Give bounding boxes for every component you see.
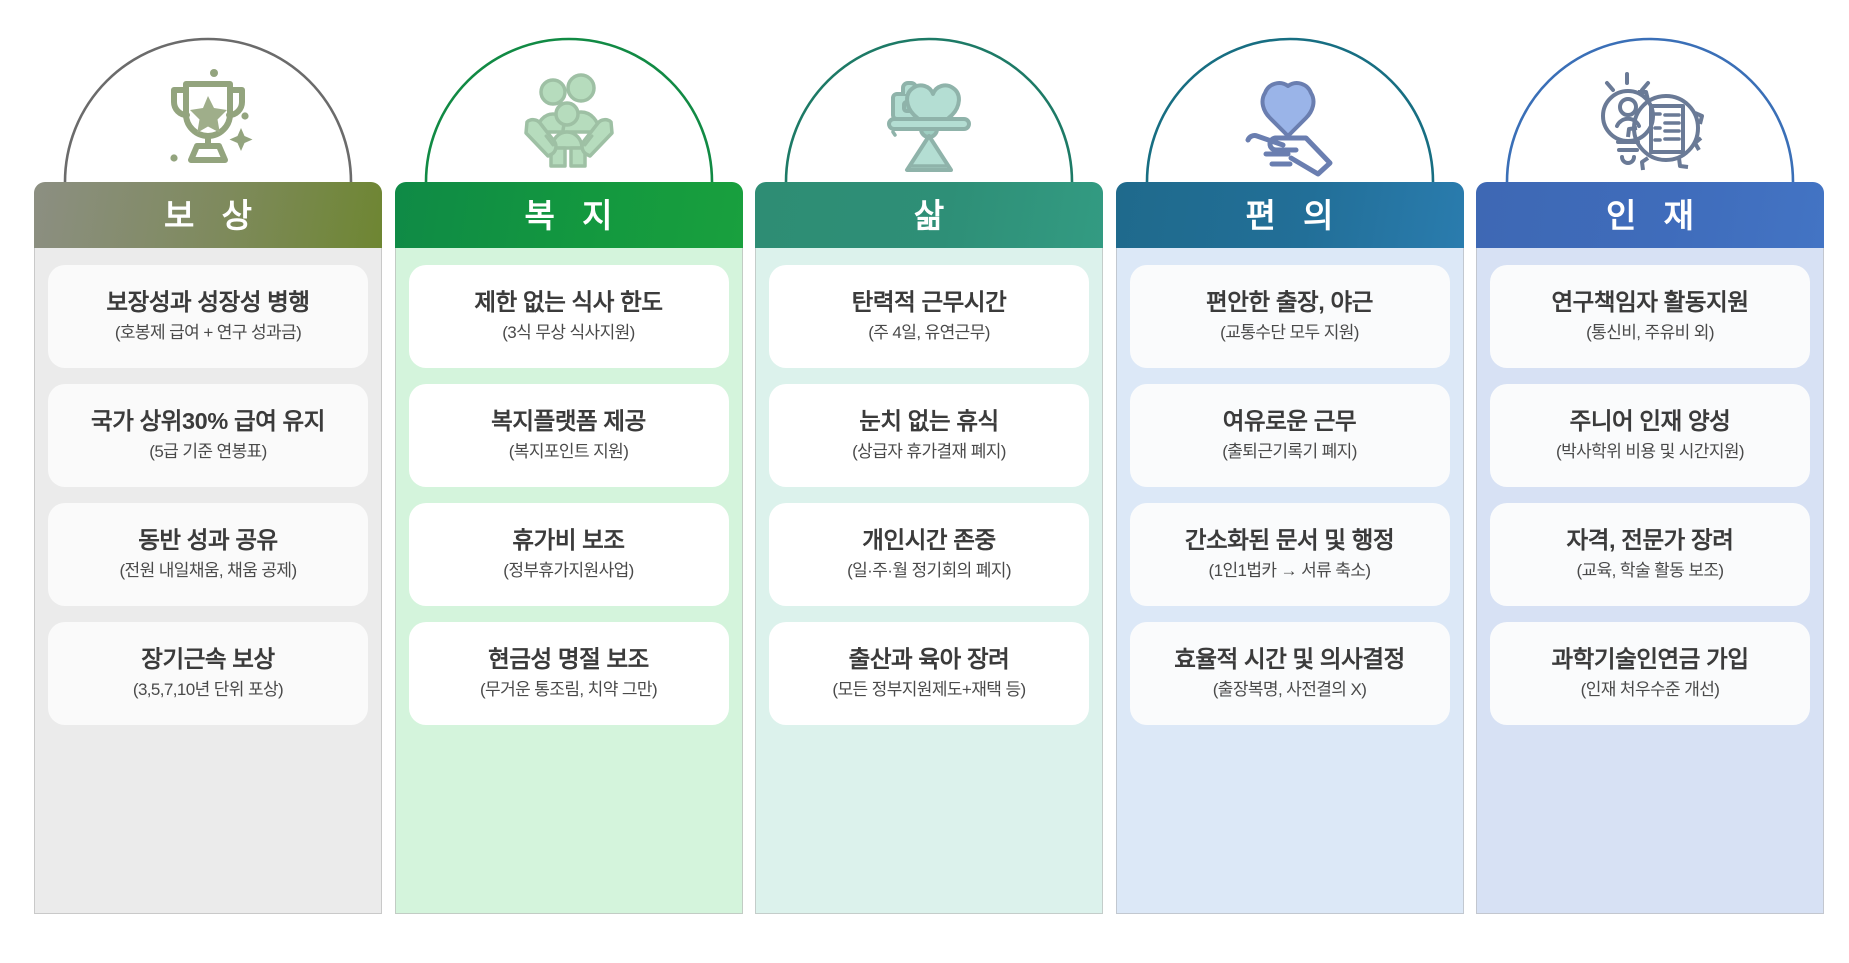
card-list-injae: 연구책임자 활동지원 (통신비, 주유비 외) 주니어 인재 양성 (박사학위 … bbox=[1476, 248, 1824, 914]
benefit-card[interactable]: 현금성 명절 보조 (무거운 통조림, 치약 그만) bbox=[409, 622, 729, 725]
benefit-card[interactable]: 휴가비 보조 (정부휴가지원사업) bbox=[409, 503, 729, 606]
category-columns: 보 상 보장성과 성장성 병행 (호봉제 급여 + 연구 성과금) 국가 상위3… bbox=[34, 24, 1824, 924]
benefit-card[interactable]: 주니어 인재 양성 (박사학위 비용 및 시간지원) bbox=[1490, 384, 1810, 487]
benefit-card[interactable]: 편안한 출장, 야근 (교통수단 모두 지원) bbox=[1130, 265, 1450, 368]
card-subtitle: (3,5,7,10년 단위 포상) bbox=[133, 680, 283, 700]
arch-zone-bosang bbox=[34, 24, 382, 182]
benefit-card[interactable]: 보장성과 성장성 병행 (호봉제 급여 + 연구 성과금) bbox=[48, 265, 368, 368]
column-title-injae: 인 재 bbox=[1597, 199, 1703, 232]
card-title: 탄력적 근무시간 bbox=[852, 289, 1007, 317]
card-subtitle: (3식 무상 식사지원) bbox=[502, 323, 635, 343]
card-subtitle: (통신비, 주유비 외) bbox=[1586, 323, 1714, 343]
benefit-card[interactable]: 출산과 육아 장려 (모든 정부지원제도+재택 등) bbox=[769, 622, 1089, 725]
benefit-card[interactable]: 여유로운 근무 (출퇴근기록기 폐지) bbox=[1130, 384, 1450, 487]
category-column-bosang[interactable]: 보 상 보장성과 성장성 병행 (호봉제 급여 + 연구 성과금) 국가 상위3… bbox=[34, 24, 382, 914]
card-title: 연구책임자 활동지원 bbox=[1551, 289, 1748, 317]
card-title: 여유로운 근무 bbox=[1223, 408, 1356, 436]
card-subtitle: (모든 정부지원제도+재택 등) bbox=[832, 680, 1025, 700]
benefit-card[interactable]: 국가 상위30% 급여 유지 (5급 기준 연봉표) bbox=[48, 384, 368, 487]
card-title: 현금성 명절 보조 bbox=[488, 646, 649, 674]
lightbulb-gear-idea-icon bbox=[1585, 54, 1715, 178]
benefit-card[interactable]: 눈치 없는 휴식 (상급자 휴가결재 폐지) bbox=[769, 384, 1089, 487]
benefit-card[interactable]: 복지플랫폼 제공 (복지포인트 지원) bbox=[409, 384, 729, 487]
card-title: 동반 성과 공유 bbox=[138, 527, 278, 555]
card-title: 주니어 인재 양성 bbox=[1570, 408, 1731, 436]
card-title: 편안한 출장, 야근 bbox=[1206, 289, 1373, 317]
card-title: 장기근속 보상 bbox=[141, 646, 274, 674]
card-title: 출산과 육아 장려 bbox=[849, 646, 1010, 674]
header-band-bokji: 복 지 bbox=[395, 182, 743, 248]
trophy-star-icon bbox=[143, 54, 273, 178]
arch-zone-sam bbox=[755, 24, 1103, 182]
category-column-bokji[interactable]: 복 지 제한 없는 식사 한도 (3식 무상 식사지원) 복지플랫폼 제공 (복… bbox=[395, 24, 743, 914]
card-list-pyeonui: 편안한 출장, 야근 (교통수단 모두 지원) 여유로운 근무 (출퇴근기록기 … bbox=[1116, 248, 1464, 914]
benefit-card[interactable]: 자격, 전문가 장려 (교육, 학술 활동 보조) bbox=[1490, 503, 1810, 606]
benefit-card[interactable]: 과학기술인연금 가입 (인재 처우수준 개선) bbox=[1490, 622, 1810, 725]
header-band-sam: 삶 bbox=[755, 182, 1103, 248]
column-title-bosang: 보 상 bbox=[155, 199, 261, 232]
card-subtitle: (박사학위 비용 및 시간지원) bbox=[1556, 442, 1744, 462]
card-title: 복지플랫폼 제공 bbox=[491, 408, 646, 436]
benefit-card[interactable]: 개인시간 존중 (일·주·월 정기회의 폐지) bbox=[769, 503, 1089, 606]
card-subtitle: (출퇴근기록기 폐지) bbox=[1222, 442, 1357, 462]
header-band-bosang: 보 상 bbox=[34, 182, 382, 248]
card-subtitle: (인재 처우수준 개선) bbox=[1581, 680, 1720, 700]
family-in-hands-icon bbox=[504, 54, 634, 178]
column-title-pyeonui: 편 의 bbox=[1237, 199, 1343, 232]
card-title: 과학기술인연금 가입 bbox=[1551, 646, 1748, 674]
card-title: 효율적 시간 및 의사결정 bbox=[1174, 646, 1405, 674]
card-subtitle: (호봉제 급여 + 연구 성과금) bbox=[115, 323, 301, 343]
card-list-bokji: 제한 없는 식사 한도 (3식 무상 식사지원) 복지플랫폼 제공 (복지포인트… bbox=[395, 248, 743, 914]
column-title-sam: 삶 bbox=[905, 199, 953, 232]
card-list-bosang: 보장성과 성장성 병행 (호봉제 급여 + 연구 성과금) 국가 상위30% 급… bbox=[34, 248, 382, 914]
card-title: 간소화된 문서 및 행정 bbox=[1185, 527, 1394, 555]
column-title-bokji: 복 지 bbox=[516, 199, 622, 232]
benefit-card[interactable]: 간소화된 문서 및 행정 (1인1법카 → 서류 축소) bbox=[1130, 503, 1450, 606]
card-subtitle: (정부휴가지원사업) bbox=[503, 561, 633, 581]
header-band-pyeonui: 편 의 bbox=[1116, 182, 1464, 248]
card-subtitle: (전원 내일채움, 채움 공제) bbox=[119, 561, 296, 581]
card-subtitle: (교통수단 모두 지원) bbox=[1220, 323, 1359, 343]
card-title: 보장성과 성장성 병행 bbox=[106, 289, 309, 317]
card-title: 개인시간 존중 bbox=[862, 527, 995, 555]
card-subtitle: (상급자 휴가결재 폐지) bbox=[852, 442, 1006, 462]
benefit-card[interactable]: 연구책임자 활동지원 (통신비, 주유비 외) bbox=[1490, 265, 1810, 368]
heart-in-hand-icon bbox=[1225, 54, 1355, 178]
card-subtitle: (복지포인트 지원) bbox=[509, 442, 629, 462]
header-band-injae: 인 재 bbox=[1476, 182, 1824, 248]
category-column-injae[interactable]: 인 재 연구책임자 활동지원 (통신비, 주유비 외) 주니어 인재 양성 (박… bbox=[1476, 24, 1824, 914]
benefit-card[interactable]: 효율적 시간 및 의사결정 (출장복명, 사전결의 X) bbox=[1130, 622, 1450, 725]
card-title: 자격, 전문가 장려 bbox=[1567, 527, 1734, 555]
benefit-card[interactable]: 제한 없는 식사 한도 (3식 무상 식사지원) bbox=[409, 265, 729, 368]
card-subtitle: (교육, 학술 활동 보조) bbox=[1577, 561, 1724, 581]
card-subtitle: (주 4일, 유연근무) bbox=[868, 323, 990, 343]
benefit-card[interactable]: 장기근속 보상 (3,5,7,10년 단위 포상) bbox=[48, 622, 368, 725]
infographic-board: 보 상 보장성과 성장성 병행 (호봉제 급여 + 연구 성과금) 국가 상위3… bbox=[0, 0, 1849, 963]
card-subtitle: (출장복명, 사전결의 X) bbox=[1213, 680, 1367, 700]
card-title: 휴가비 보조 bbox=[512, 527, 624, 555]
category-column-sam[interactable]: 삶 탄력적 근무시간 (주 4일, 유연근무) 눈치 없는 휴식 (상급자 휴가… bbox=[755, 24, 1103, 914]
card-subtitle: (5급 기준 연봉표) bbox=[149, 442, 266, 462]
card-subtitle: (일·주·월 정기회의 폐지) bbox=[847, 561, 1011, 581]
card-title: 눈치 없는 휴식 bbox=[859, 408, 999, 436]
card-subtitle: (1인1법카 → 서류 축소) bbox=[1209, 561, 1371, 581]
arch-zone-injae bbox=[1476, 24, 1824, 182]
arch-zone-pyeonui bbox=[1116, 24, 1464, 182]
work-life-balance-scale-icon bbox=[864, 54, 994, 178]
card-list-sam: 탄력적 근무시간 (주 4일, 유연근무) 눈치 없는 휴식 (상급자 휴가결재… bbox=[755, 248, 1103, 914]
card-subtitle: (무거운 통조림, 치약 그만) bbox=[480, 680, 657, 700]
card-title: 국가 상위30% 급여 유지 bbox=[91, 408, 325, 436]
category-column-pyeonui[interactable]: 편 의 편안한 출장, 야근 (교통수단 모두 지원) 여유로운 근무 (출퇴근… bbox=[1116, 24, 1464, 914]
card-title: 제한 없는 식사 한도 bbox=[474, 289, 662, 317]
arch-zone-bokji bbox=[395, 24, 743, 182]
benefit-card[interactable]: 탄력적 근무시간 (주 4일, 유연근무) bbox=[769, 265, 1089, 368]
benefit-card[interactable]: 동반 성과 공유 (전원 내일채움, 채움 공제) bbox=[48, 503, 368, 606]
